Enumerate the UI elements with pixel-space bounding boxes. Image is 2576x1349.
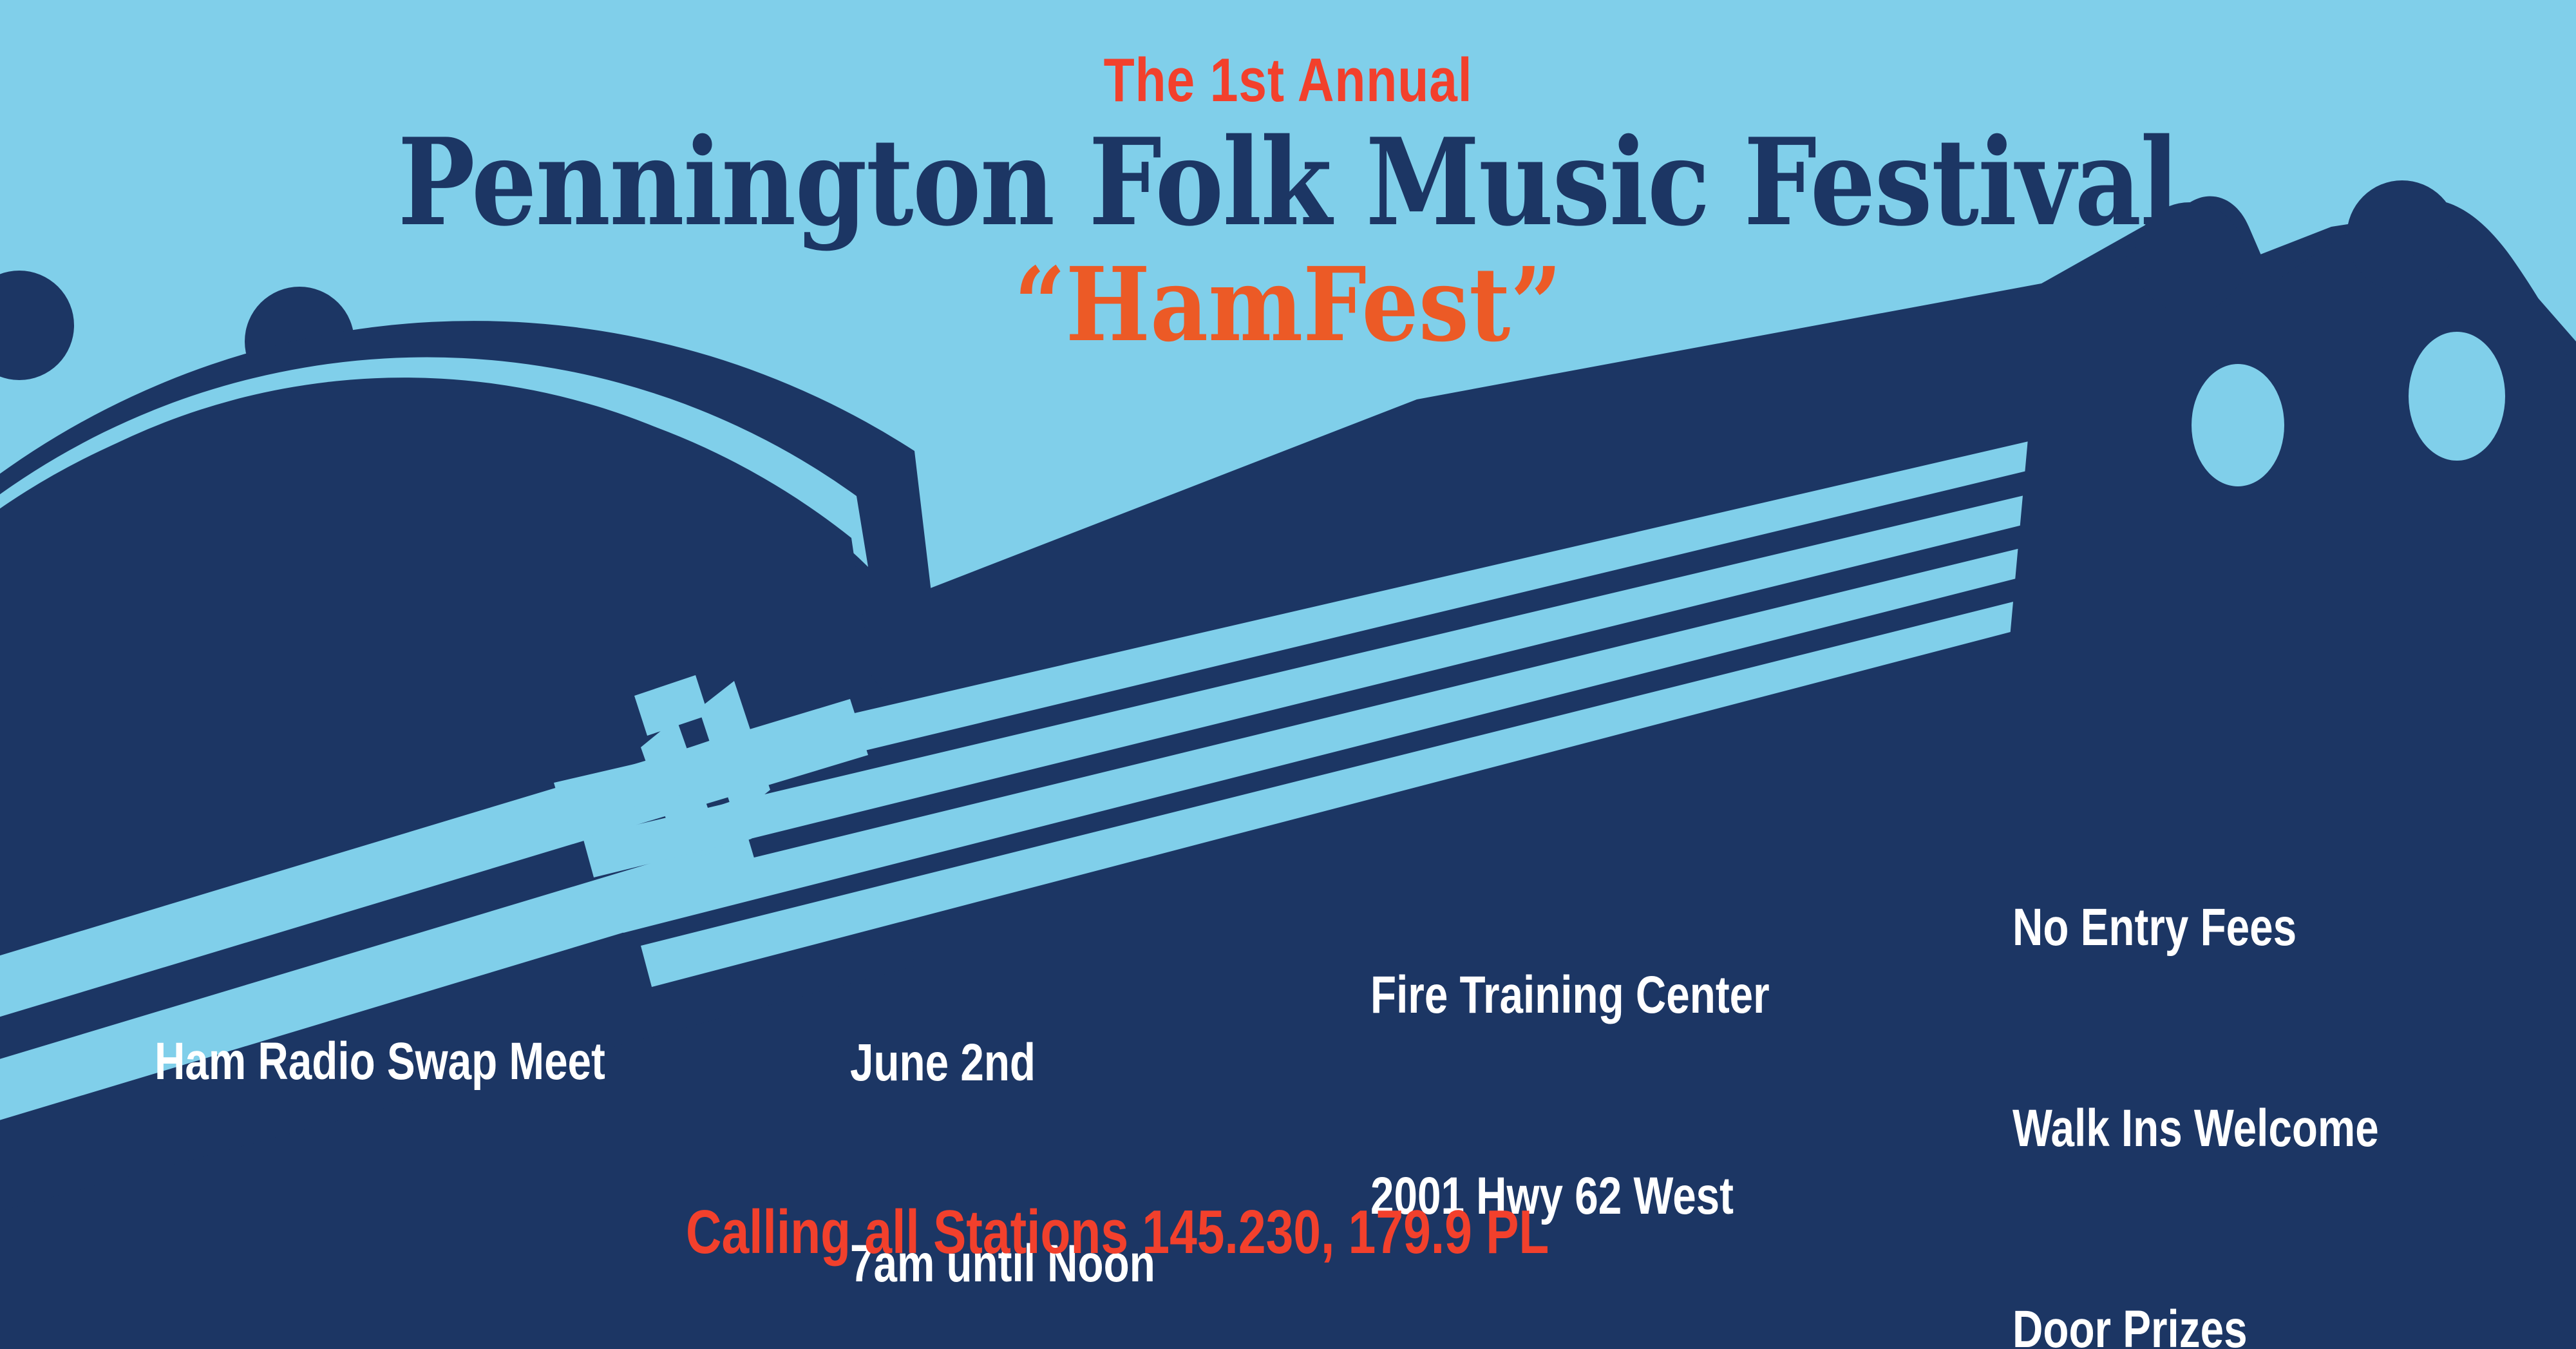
- page-title: Pennington Folk Music Festival: [180, 122, 2396, 242]
- subtitle: “HamFest”: [155, 254, 2421, 356]
- info-line: June 2nd: [850, 1029, 1155, 1096]
- info-column-perks: No Entry Fees Walk Ins Welcome Door Priz…: [2012, 760, 2379, 1349]
- peg-hole-right: [2409, 332, 2505, 461]
- pretitle: The 1st Annual: [232, 45, 2344, 116]
- poster-canvas: The 1st Annual Pennington Folk Music Fes…: [0, 0, 2576, 1349]
- info-line: Door Prizes: [2012, 1296, 2379, 1349]
- info-line: No Entry Fees: [2012, 894, 2379, 961]
- info-column-venue-address: Fire Training Center 2001 Hwy 62 West Pr…: [1370, 828, 1793, 1349]
- swap-meet-label: Ham Radio Swap Meet: [155, 1028, 605, 1095]
- info-line: Fire Training Center: [1370, 962, 1793, 1029]
- calling-stations-text: Calling all Stations 145.230, 179.9 PL: [686, 1197, 1549, 1268]
- info-line: Walk Ins Welcome: [2012, 1095, 2379, 1162]
- peg-hole-left: [2192, 364, 2284, 486]
- info-column-date-time: June 2nd 7am until Noon Testing at 9am: [850, 895, 1155, 1349]
